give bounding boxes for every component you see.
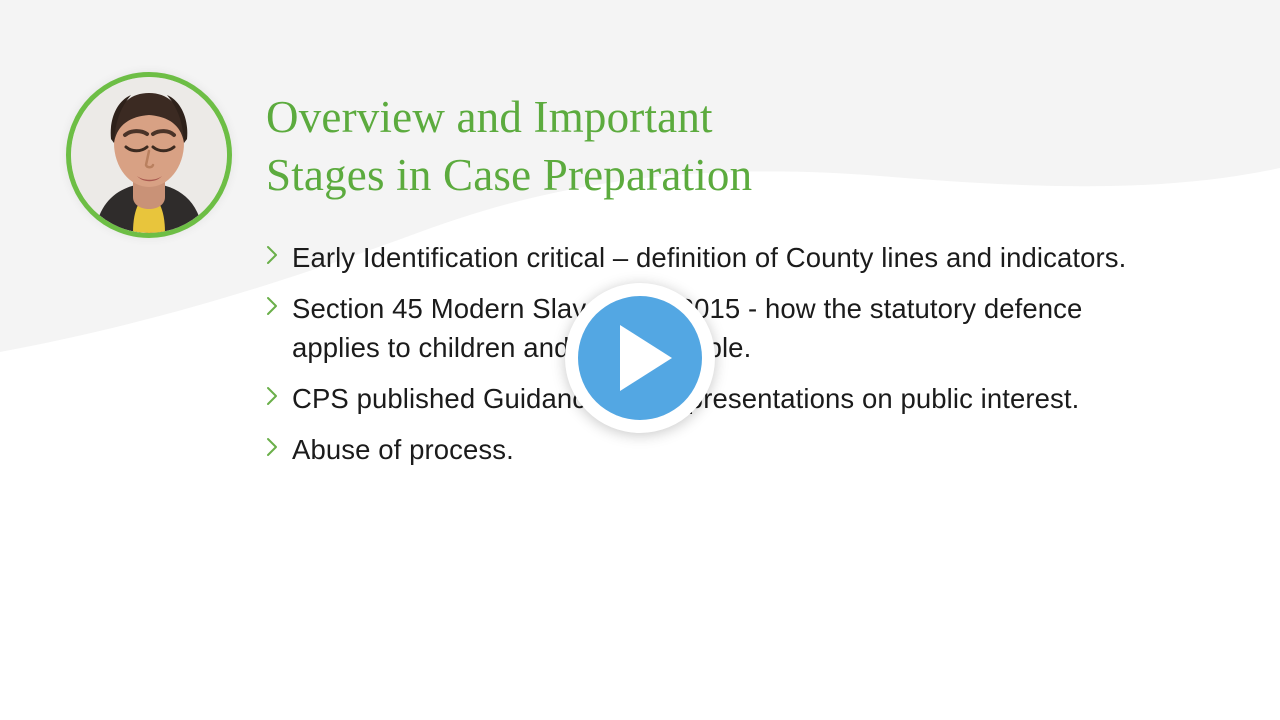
bullet-text: Early Identification critical – definiti… (292, 238, 1146, 277)
chevron-right-icon (266, 379, 292, 406)
slide-title-line-2: Stages in Case Preparation (266, 146, 966, 204)
play-triangle-icon (620, 325, 672, 391)
avatar-video-frame (71, 77, 227, 233)
presenter-avatar[interactable] (66, 72, 232, 238)
bullet-item: Abuse of process. (266, 430, 1146, 469)
slide-title: Overview and Important Stages in Case Pr… (266, 88, 966, 204)
play-button[interactable] (565, 283, 715, 433)
chevron-right-icon (266, 430, 292, 457)
bullet-item: Early Identification critical – definiti… (266, 238, 1146, 277)
chevron-right-icon (266, 238, 292, 265)
presenter-portrait-icon (71, 77, 227, 233)
chevron-right-icon (266, 289, 292, 316)
bullet-text: Abuse of process. (292, 430, 1146, 469)
play-button-disc (578, 296, 702, 420)
bullet-text: Section 45 Modern Slavery Act 2015 - how… (292, 289, 1146, 367)
bullet-text: CPS published Guidance and representatio… (292, 379, 1146, 418)
video-slide: Overview and Important Stages in Case Pr… (0, 0, 1280, 720)
slide-title-line-1: Overview and Important (266, 88, 966, 146)
